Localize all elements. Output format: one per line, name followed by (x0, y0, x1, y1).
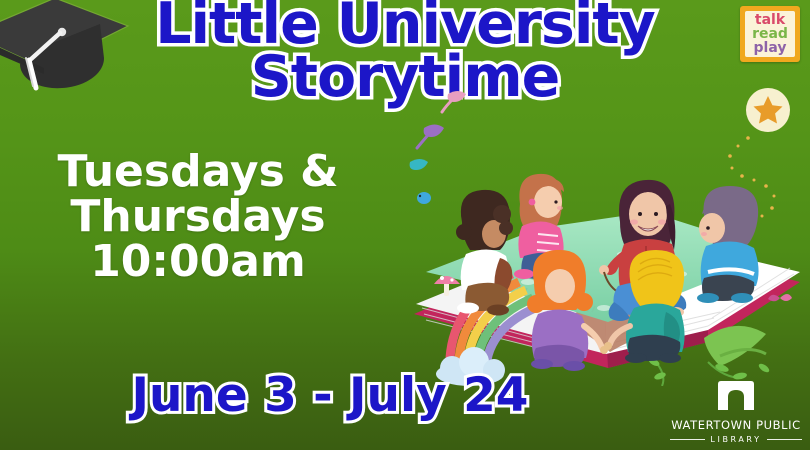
poster-canvas: Little University Storytime (0, 0, 810, 450)
library-logo: WATERTOWN PUBLIC LIBRARY (670, 380, 802, 444)
divider-left (670, 439, 705, 440)
library-subtitle-row: LIBRARY (670, 435, 802, 444)
trp-word-talk: talk (755, 13, 785, 27)
bird-icon-pink (442, 91, 466, 112)
library-subtitle: LIBRARY (710, 435, 761, 444)
star-badge-icon (746, 88, 790, 132)
library-arch-mark-icon (716, 380, 756, 412)
bird-icon-teal (410, 159, 428, 170)
schedule-days-line1: Tuesdays & (8, 150, 388, 195)
trp-word-read: read (752, 27, 788, 41)
schedule-block: Tuesdays & Thursdays 10:00am (8, 150, 388, 285)
storytime-illustration (408, 86, 810, 386)
date-range: June 3 - July 24 (0, 368, 660, 423)
library-name: WATERTOWN PUBLIC (670, 418, 802, 432)
bird-icon-blue-small (417, 192, 431, 204)
graduation-cap-icon (0, 0, 140, 108)
divider-right (767, 439, 802, 440)
schedule-time: 10:00am (8, 240, 388, 285)
trp-word-play: play (754, 41, 787, 55)
bird-icon-purple (417, 125, 444, 149)
talk-read-play-logo: talk read play (740, 6, 800, 62)
schedule-days-line2: Thursdays (8, 195, 388, 240)
